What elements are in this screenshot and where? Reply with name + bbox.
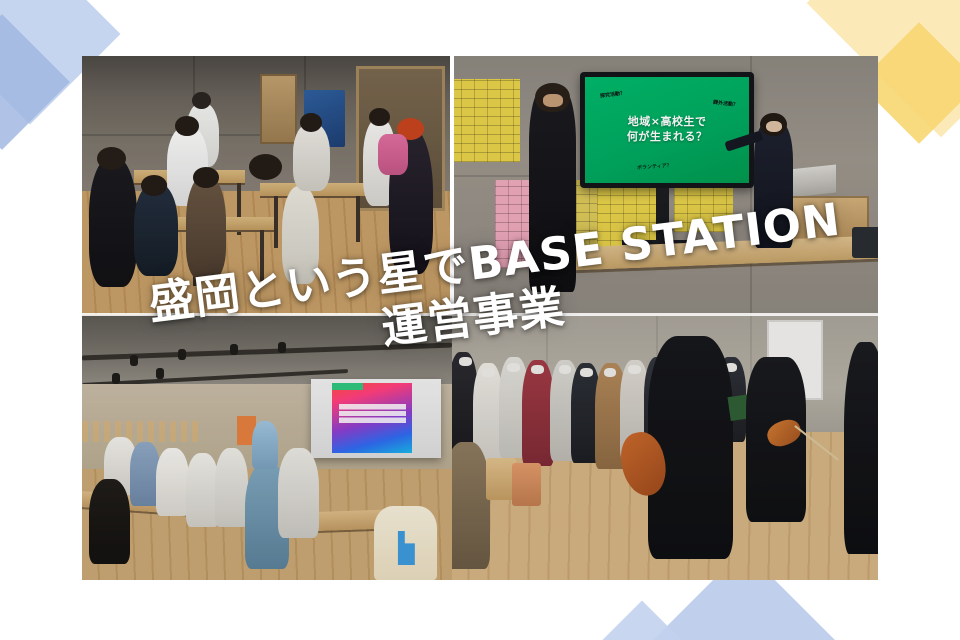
seminar-photo	[82, 315, 452, 580]
concert-photo	[452, 315, 878, 580]
presentation-photo: 探究活動？ 課外活動？ 地域×高校生で 何が生まれる？ ボランティア？	[452, 56, 878, 315]
photo-collage: 探究活動？ 課外活動？ 地域×高校生で 何が生まれる？ ボランティア？	[82, 56, 878, 580]
collage-vertical-divider	[450, 56, 454, 315]
workshop-photo	[82, 56, 452, 315]
collage-horizontal-divider	[82, 313, 878, 316]
top-left-mid-blue-diamond-icon	[0, 14, 70, 150]
bottom-right-pale-blue-diamond-icon	[568, 600, 715, 640]
slide-canvas: 探究活動？ 課外活動？ 地域×高校生で 何が生まれる？ ボランティア？	[0, 0, 960, 640]
